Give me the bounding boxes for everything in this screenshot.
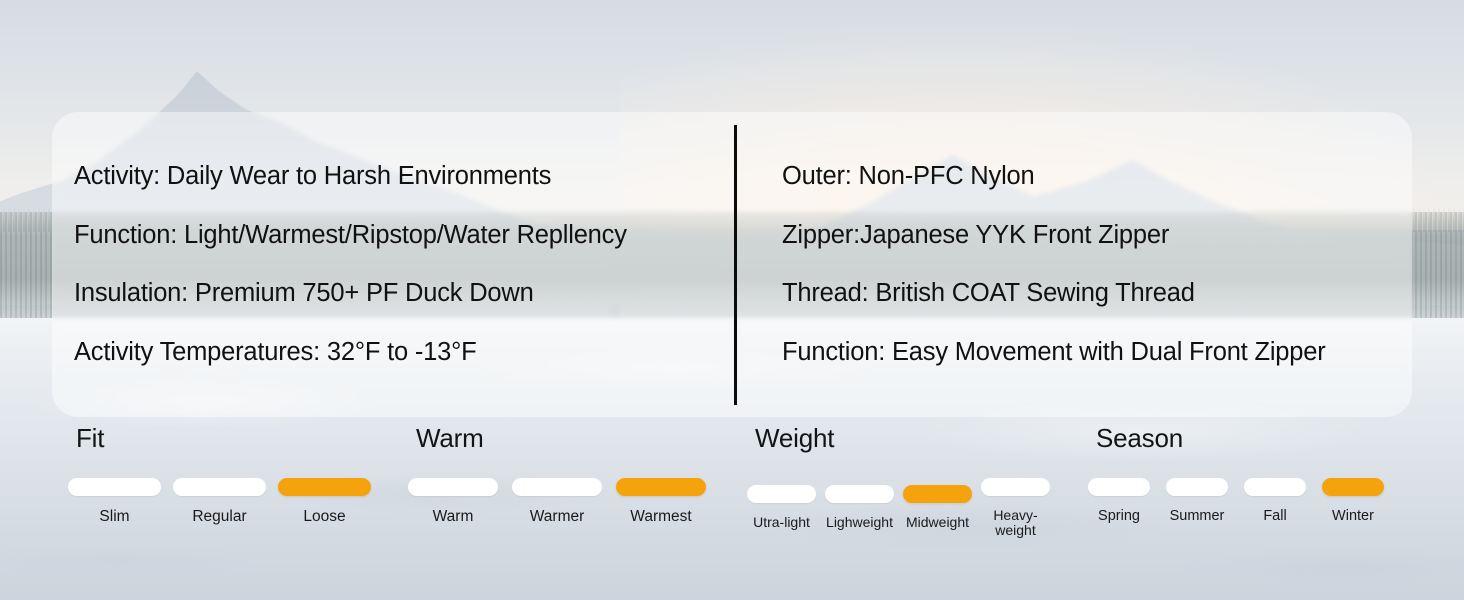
meter-segment-warmer[interactable]: Warmer — [512, 478, 602, 525]
meter-label-midweight: Midweight — [906, 515, 969, 530]
meter-title-fit: Fit — [76, 425, 371, 451]
spec-temperatures: Activity Temperatures: 32°F to -13°F — [74, 340, 734, 366]
meter-segment-warmest[interactable]: Warmest — [616, 478, 706, 525]
meter-group-warm: Warm Warm Warmer Warmest — [408, 425, 706, 525]
meter-track-season: Spring Summer Fall Winter — [1088, 478, 1384, 524]
meter-track-warm: Warm Warmer Warmest — [408, 478, 706, 525]
meter-bar-heavyweight[interactable] — [981, 478, 1050, 496]
meter-segment-heavyweight[interactable]: Heavy- weight — [981, 478, 1050, 538]
specs-card: Activity: Daily Wear to Harsh Environmen… — [52, 112, 1412, 417]
meter-title-weight: Weight — [755, 425, 1050, 451]
meter-label-warmer: Warmer — [530, 509, 585, 525]
spec-function-motion: Function: Easy Movement with Dual Front … — [782, 340, 1412, 366]
meter-segment-regular[interactable]: Regular — [173, 478, 266, 525]
spec-function: Function: Light/Warmest/Ripstop/Water Re… — [74, 223, 734, 249]
spec-outer: Outer: Non-PFC Nylon — [782, 164, 1412, 190]
spec-insulation: Insulation: Premium 750+ PF Duck Down — [74, 281, 734, 307]
meter-segment-winter[interactable]: Winter — [1322, 478, 1384, 524]
meter-label-warmest: Warmest — [630, 509, 691, 525]
spec-thread: Thread: British COAT Sewing Thread — [782, 281, 1412, 307]
column-divider — [734, 125, 737, 405]
meter-label-winter: Winter — [1332, 509, 1374, 524]
meter-segment-lightweight[interactable]: Lighweight — [825, 485, 894, 530]
meter-bar-regular[interactable] — [173, 478, 266, 496]
spec-activity: Activity: Daily Wear to Harsh Environmen… — [74, 164, 734, 190]
meter-label-summer: Summer — [1170, 509, 1225, 524]
meter-segment-slim[interactable]: Slim — [68, 478, 161, 525]
meter-bar-summer[interactable] — [1166, 478, 1228, 496]
meter-segment-loose[interactable]: Loose — [278, 478, 371, 525]
meter-group-season: Season Spring Summer Fall Winter — [1088, 425, 1384, 524]
meter-bar-lightweight[interactable] — [825, 485, 894, 503]
meter-bar-fall[interactable] — [1244, 478, 1306, 496]
meter-label-fall: Fall — [1263, 509, 1286, 524]
meter-bar-slim[interactable] — [68, 478, 161, 496]
meter-bar-loose[interactable] — [278, 478, 371, 496]
meter-label-lightweight: Lighweight — [826, 515, 893, 530]
meter-segment-summer[interactable]: Summer — [1166, 478, 1228, 524]
meter-bar-spring[interactable] — [1088, 478, 1150, 496]
meter-bar-warm[interactable] — [408, 478, 498, 496]
meter-segment-fall[interactable]: Fall — [1244, 478, 1306, 524]
meter-label-warm: Warm — [433, 509, 474, 525]
meter-bar-midweight[interactable] — [903, 485, 972, 503]
product-feature-banner: Activity: Daily Wear to Harsh Environmen… — [0, 0, 1464, 600]
meter-label-regular: Regular — [192, 509, 246, 525]
meter-title-season: Season — [1096, 425, 1384, 451]
meter-segment-warm[interactable]: Warm — [408, 478, 498, 525]
specs-column-left: Activity: Daily Wear to Harsh Environmen… — [52, 112, 734, 417]
meter-bar-warmer[interactable] — [512, 478, 602, 496]
meter-bar-winter[interactable] — [1322, 478, 1384, 496]
meter-bar-ultralight[interactable] — [747, 485, 816, 503]
meter-track-fit: Slim Regular Loose — [68, 478, 371, 525]
meter-label-heavyweight: Heavy- weight — [993, 508, 1037, 538]
meter-bar-warmest[interactable] — [616, 478, 706, 496]
meter-track-weight: Utra-light Lighweight Midweight Heavy- w… — [747, 478, 1050, 538]
meter-label-loose: Loose — [303, 509, 345, 525]
meter-segment-midweight[interactable]: Midweight — [903, 485, 972, 530]
meter-title-warm: Warm — [416, 425, 706, 451]
meter-label-ultralight: Utra-light — [753, 515, 810, 530]
meter-segment-spring[interactable]: Spring — [1088, 478, 1150, 524]
meter-group-weight: Weight Utra-light Lighweight Midweight H… — [747, 425, 1050, 538]
specs-column-right: Outer: Non-PFC Nylon Zipper:Japanese YYK… — [734, 112, 1412, 417]
meter-label-slim: Slim — [99, 509, 129, 525]
attribute-meters: Fit Slim Regular Loose Warm — [0, 425, 1464, 575]
meter-label-spring: Spring — [1098, 509, 1140, 524]
meter-group-fit: Fit Slim Regular Loose — [68, 425, 371, 525]
meter-segment-ultralight[interactable]: Utra-light — [747, 485, 816, 530]
spec-zipper: Zipper:Japanese YYK Front Zipper — [782, 223, 1412, 249]
